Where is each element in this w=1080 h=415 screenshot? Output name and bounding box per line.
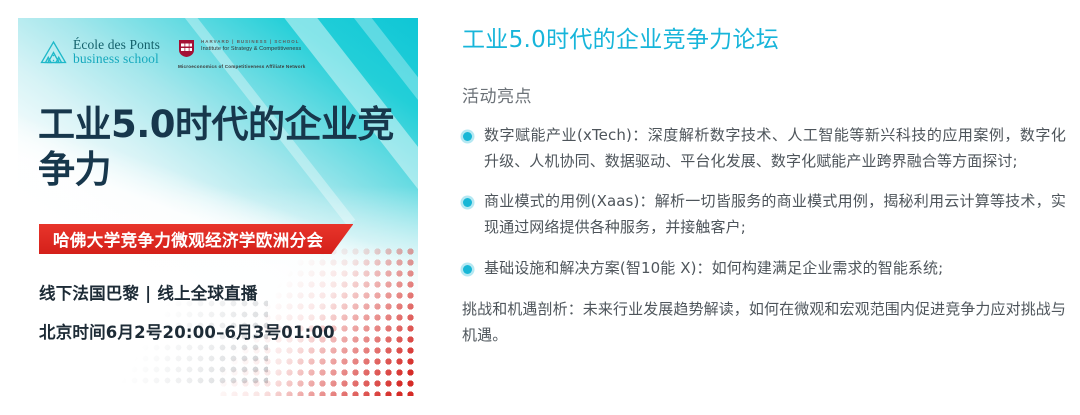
- highlights-list: 数字赋能产业(xTech)：深度解析数字技术、人工智能等新兴科技的应用案例，数字…: [462, 123, 1066, 282]
- poster-content: École des Ponts business school: [18, 18, 418, 396]
- ecole-logo-text: École des Ponts business school: [73, 38, 160, 66]
- poster-time-line: 北京时间6月2号20:00–6月3号01:00: [39, 319, 335, 343]
- harvard-logo-text: HARVARD | BUSINESS | SCHOOL Institute fo…: [201, 39, 301, 52]
- list-item: 基础设施和解决方案(智10能 X)：如何构建满足企业需求的智能系统;: [462, 256, 1066, 282]
- triangle-sierpinski-icon: [40, 40, 67, 64]
- list-item: 商业模式的用例(Xaas)：解析一切皆服务的商业模式用例，揭秘利用云计算等技术，…: [462, 189, 1066, 241]
- poster-headline: 工业5.0时代的企业竞争力: [38, 102, 398, 192]
- ecole-logo-line1: École des Ponts: [73, 38, 160, 52]
- harvard-institute-logo: HARVARD | BUSINESS | SCHOOL Institute fo…: [178, 38, 305, 69]
- article-closing-paragraph: 挑战和机遇剖析：未来行业发展趋势解读，如何在微观和宏观范围内促进竞争力应对挑战与…: [462, 297, 1066, 349]
- poster-logos: École des Ponts business school: [40, 38, 305, 69]
- ecole-logo-line2: business school: [73, 52, 160, 66]
- event-poster[interactable]: École des Ponts business school: [18, 18, 418, 396]
- harvard-shield-icon: [178, 39, 195, 58]
- list-item: 数字赋能产业(xTech)：深度解析数字技术、人工智能等新兴科技的应用案例，数字…: [462, 123, 1066, 175]
- harvard-logo-line2: Institute for Strategy & Competitiveness: [201, 46, 301, 53]
- poster-meta: 线下法国巴黎 | 线上全球直播 北京时间6月2号20:00–6月3号01:00: [39, 280, 335, 343]
- article-column: 工业5.0时代的企业竞争力论坛 活动亮点 数字赋能产业(xTech)：深度解析数…: [440, 0, 1080, 415]
- poster-ribbon-banner: 哈佛大学竞争力微观经济学欧洲分会: [39, 224, 353, 254]
- harvard-logo-row: HARVARD | BUSINESS | SCHOOL Institute fo…: [178, 39, 305, 58]
- page-root: École des Ponts business school: [0, 0, 1080, 415]
- harvard-logo-line1: HARVARD | BUSINESS | SCHOOL: [201, 39, 301, 45]
- ecole-des-ponts-logo: École des Ponts business school: [40, 38, 160, 66]
- harvard-logo-line3: Microeconomics of Competitiveness Affili…: [178, 64, 305, 69]
- poster-location-line: 线下法国巴黎 | 线上全球直播: [39, 280, 335, 304]
- article-title: 工业5.0时代的企业竞争力论坛: [462, 26, 1066, 56]
- poster-column: École des Ponts business school: [0, 0, 440, 415]
- article-subtitle: 活动亮点: [462, 82, 1066, 107]
